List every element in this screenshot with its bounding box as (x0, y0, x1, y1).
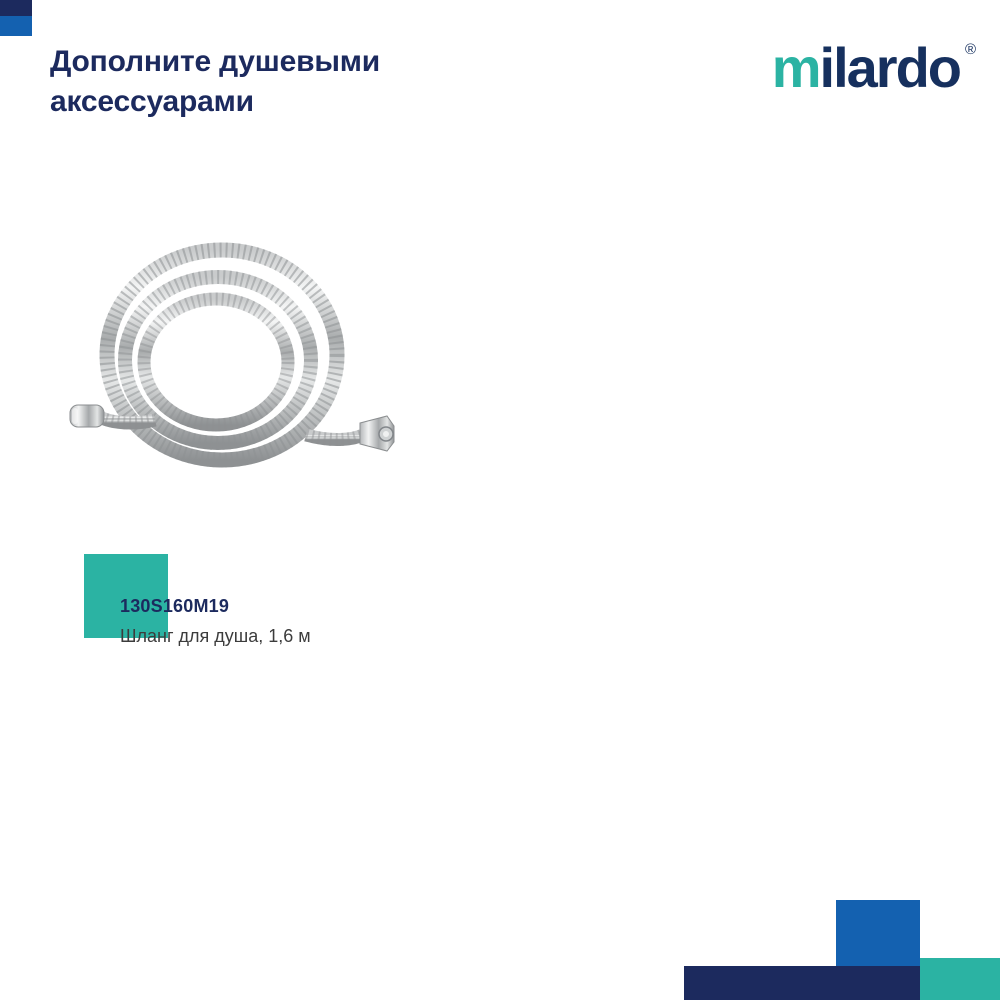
brand-logo-rest: ilardo (820, 36, 960, 99)
shower-hose-illustration (60, 230, 420, 520)
decor-square-bottom-right-teal (920, 958, 1000, 1000)
hose-connector-left (70, 405, 104, 427)
product-photo (60, 230, 420, 520)
page-title: Дополните душевыми аксессуарами (50, 42, 570, 122)
brand-logo: milardo® (772, 40, 960, 96)
hose-connector-right (360, 416, 394, 451)
brand-logo-text: milardo® (772, 40, 960, 96)
product-sku: 130S160M19 (120, 596, 229, 617)
registered-mark-icon: ® (965, 42, 976, 57)
promo-page: Дополните душевыми аксессуарами milardo® (0, 0, 1000, 1000)
product-description: Шланг для душа, 1,6 м (120, 624, 380, 650)
decor-square-top-left-blue (0, 16, 32, 36)
decor-square-bottom-right-blue (836, 900, 920, 966)
brand-logo-initial: m (772, 36, 820, 99)
decor-bar-bottom-right-navy (684, 966, 920, 1000)
